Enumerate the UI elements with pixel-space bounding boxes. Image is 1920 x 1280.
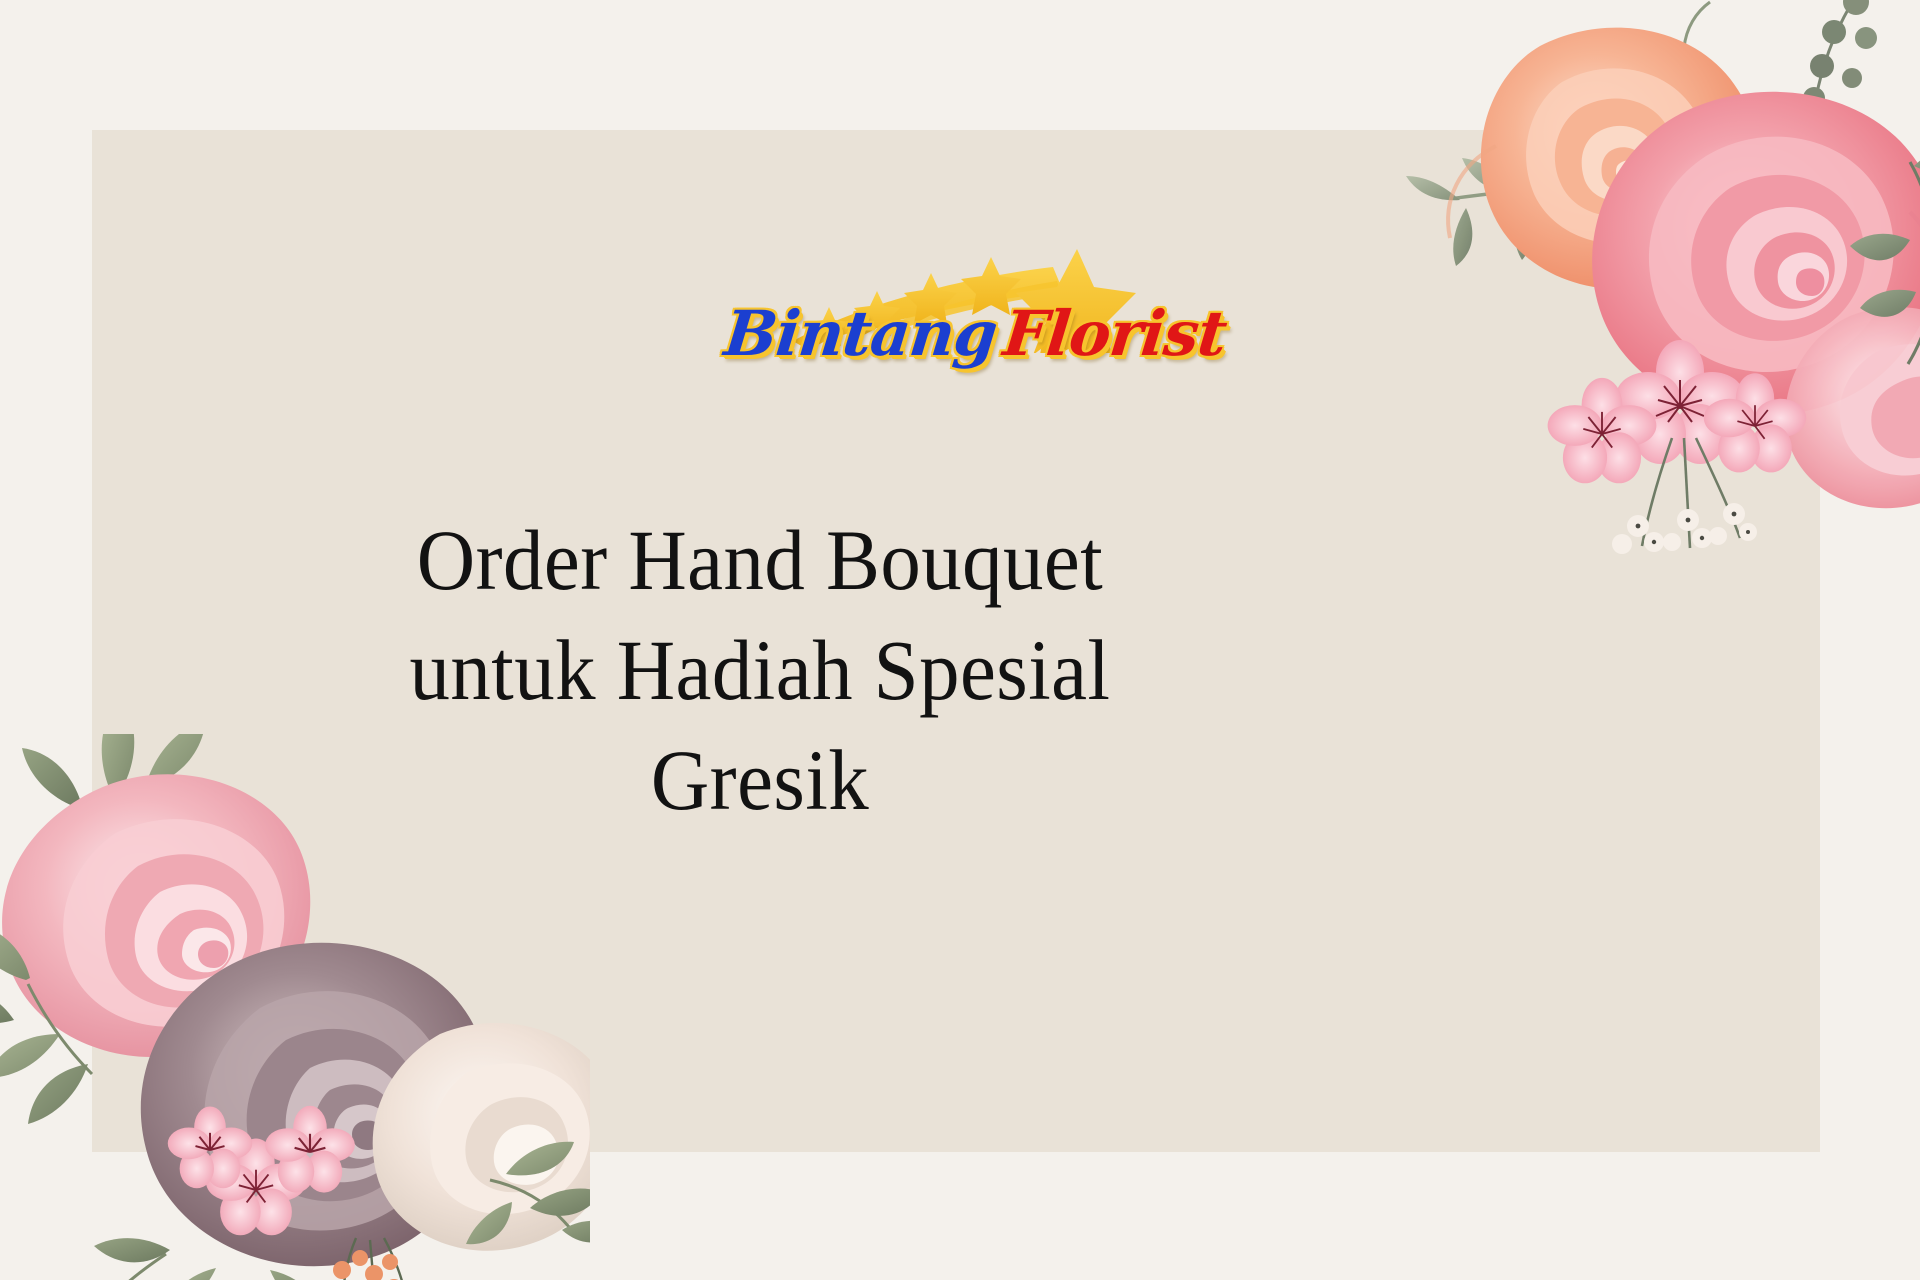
headline-line-3: Gresik bbox=[356, 725, 1164, 835]
fern-sprig-icon bbox=[94, 1238, 324, 1280]
headline-line-1: Order Hand Bouquet bbox=[356, 505, 1164, 615]
page-title: Order Hand Bouquet untuk Hadiah Spesial … bbox=[356, 505, 1164, 835]
poster-canvas: BintangFlorist Order Hand Bouquet untuk … bbox=[0, 0, 1920, 1280]
coral-berry-spray-icon bbox=[333, 1238, 414, 1280]
eucalyptus-sprig-icon bbox=[1850, 145, 1920, 364]
seeded-eucalyptus-icon bbox=[1803, 0, 1877, 109]
headline-line-2: untuk Hadiah Spesial bbox=[356, 615, 1164, 725]
olive-branch-icon bbox=[466, 1142, 590, 1244]
olive-leaf-icon bbox=[0, 922, 92, 1124]
